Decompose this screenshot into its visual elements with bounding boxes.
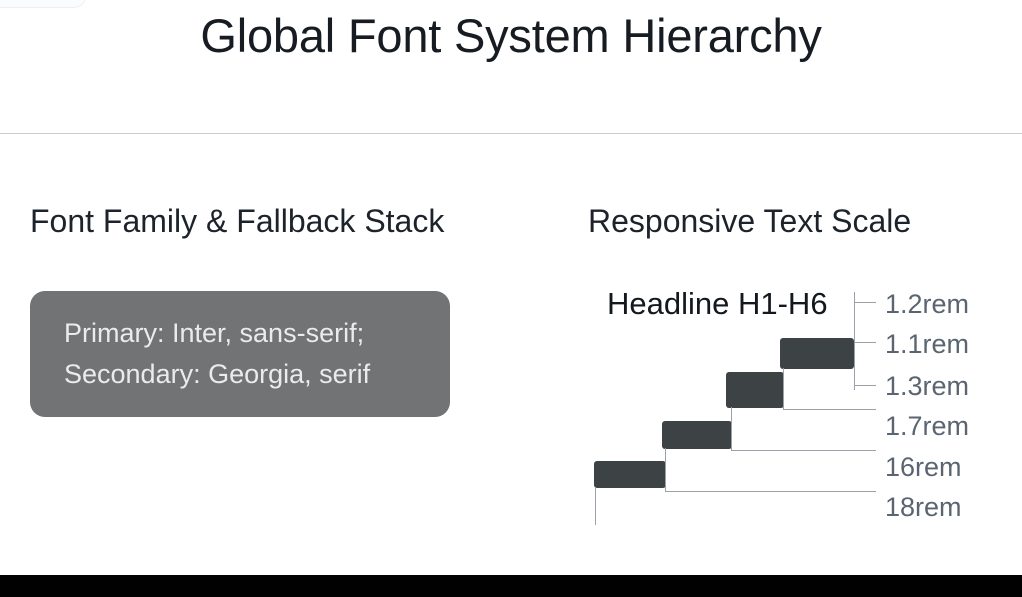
header-divider — [0, 133, 1022, 134]
scale-label-6: 18rem — [885, 494, 962, 521]
left-column-heading: Font Family & Fallback Stack — [30, 203, 444, 240]
leader-line-6 — [665, 491, 876, 492]
headline-range-label: Headline H1-H6 — [607, 286, 828, 322]
font-stack-secondary-line: Secondary: Georgia, serif — [64, 354, 450, 395]
slide-canvas: Global Font System Hierarchy Font Family… — [0, 0, 1022, 597]
riser-bar4 — [665, 448, 666, 492]
tick-line-1 — [854, 302, 876, 303]
scale-label-3: 1.3rem — [885, 373, 969, 400]
leader-line-5 — [731, 450, 876, 451]
scale-label-1: 1.2rem — [885, 291, 969, 318]
window-corner-chrome — [0, 0, 86, 8]
riser-bar2 — [783, 368, 784, 410]
bottom-letterbox-band — [0, 575, 1022, 597]
scale-label-4: 1.7rem — [885, 413, 969, 440]
step-bar-2 — [726, 372, 784, 408]
step-bar-3 — [662, 421, 732, 449]
right-column-heading: Responsive Text Scale — [588, 203, 911, 240]
page-title: Global Font System Hierarchy — [0, 8, 1022, 64]
riser-baseline-stub — [595, 487, 596, 525]
step-bar-1 — [780, 338, 854, 369]
scale-label-5: 16rem — [885, 454, 962, 481]
leader-line-4 — [783, 409, 876, 410]
responsive-scale-diagram: Headline H1-H6 1.2rem 1.1rem 1.3rem 1.7r… — [580, 276, 1022, 536]
headline-bracket-spine — [854, 292, 855, 386]
tick-line-2 — [854, 342, 876, 343]
step-bar-4 — [594, 461, 666, 488]
scale-label-2: 1.1rem — [885, 331, 969, 358]
font-stack-primary-line: Primary: Inter, sans-serif; — [64, 313, 450, 354]
font-stack-card: Primary: Inter, sans-serif; Secondary: G… — [30, 291, 450, 417]
riser-bar3 — [731, 407, 732, 451]
tick-line-3 — [854, 385, 876, 386]
